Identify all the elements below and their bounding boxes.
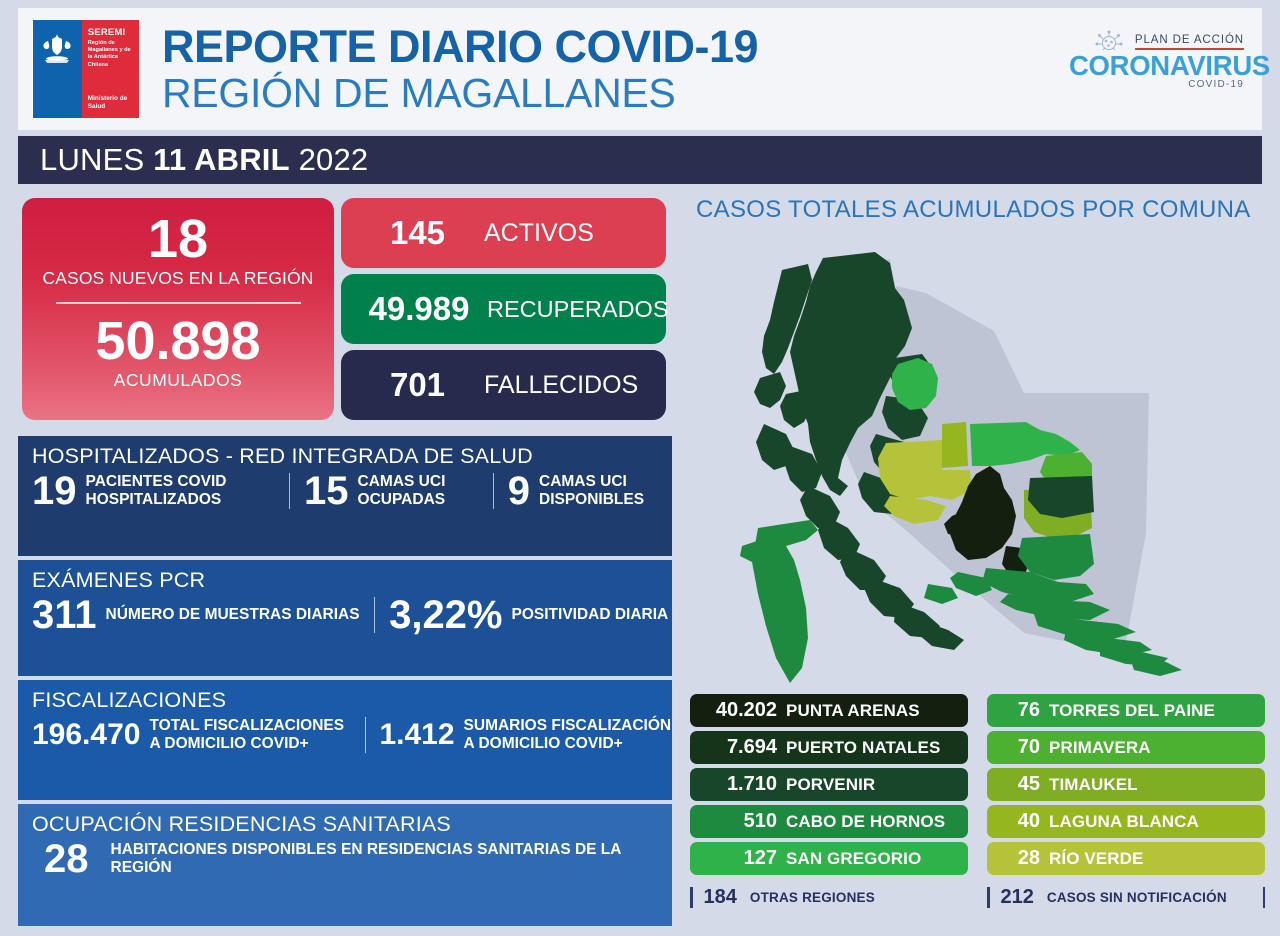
comuna-value: 127 xyxy=(690,847,786,870)
table-row: 7.694 PUERTO NATALES xyxy=(690,731,968,764)
casos-sin-notificacion-value: 212 xyxy=(1001,886,1034,909)
seremi-logo: SEREMI Región de Magallanes y de la Antá… xyxy=(32,19,140,119)
table-row: 127 SAN GREGORIO xyxy=(690,842,968,875)
table-row: 1.710 PORVENIR xyxy=(690,768,968,801)
comuna-name: SAN GREGORIO xyxy=(786,849,921,869)
sumarios-value: 1.412 xyxy=(379,715,454,755)
new-cases-label: CASOS NUEVOS EN LA REGIÓN xyxy=(43,268,314,289)
pill-recuperados: 49.989 RECUPERADOS xyxy=(341,274,666,344)
comuna-name: TORRES DEL PAINE xyxy=(1049,701,1215,721)
logo-region-text: Región de Magallanes y de la Antártica C… xyxy=(88,40,135,69)
pcr-positivity-label: POSITIVIDAD DIARIA xyxy=(512,606,669,624)
comuna-name: PUNTA ARENAS xyxy=(786,701,920,721)
logo-seremi-text: SEREMI xyxy=(88,27,135,38)
total-cases-value: 50.898 xyxy=(95,312,260,370)
recuperados-value: 49.989 xyxy=(355,290,483,328)
divider-bar xyxy=(690,887,693,908)
comuna-value: 40 xyxy=(987,810,1049,833)
divider-bar xyxy=(1263,887,1266,908)
region-antartica xyxy=(740,520,818,683)
comuna-name: TIMAUKEL xyxy=(1049,775,1138,795)
status-pills: 145 ACTIVOS 49.989 RECUPERADOS 701 FALLE… xyxy=(341,198,666,426)
date-day-month: 11 ABRIL xyxy=(153,142,290,178)
virus-icon xyxy=(1088,30,1130,50)
comuna-name: RÍO VERDE xyxy=(1049,849,1143,869)
comuna-value: 70 xyxy=(987,736,1049,759)
region-laguna-blanca xyxy=(942,422,968,468)
otras-regiones-value: 184 xyxy=(704,886,737,909)
table-row: 28 RÍO VERDE xyxy=(987,842,1265,875)
table-row: 70 PRIMAVERA xyxy=(987,731,1265,764)
card-divider xyxy=(56,302,301,304)
casos-sin-notificacion-stat: 212 CASOS SIN NOTIFICACIÓN xyxy=(987,883,1265,911)
pcr-samples-label: NÚMERO DE MUESTRAS DIARIAS xyxy=(106,606,360,624)
new-cases-value: 18 xyxy=(148,210,208,268)
pcr-heading: EXÁMENES PCR xyxy=(18,560,672,595)
pcr-positivity-value: 3,22% xyxy=(389,595,502,635)
residencias-heading: OCUPACIÓN RESIDENCIAS SANITARIAS xyxy=(18,804,672,839)
report-header: SEREMI Región de Magallanes y de la Antá… xyxy=(18,8,1262,130)
hosp-patients-value: 19 xyxy=(32,471,77,511)
map-svg xyxy=(690,228,1265,683)
page-title: REPORTE DIARIO COVID-19 xyxy=(162,23,758,71)
comuna-name: PUERTO NATALES xyxy=(786,738,940,758)
recuperados-label: RECUPERADOS xyxy=(487,296,669,323)
comuna-value: 45 xyxy=(987,773,1049,796)
magallanes-choropleth-map xyxy=(690,228,1265,683)
fiscalizaciones-heading: FISCALIZACIONES xyxy=(18,680,672,715)
casos-sin-notificacion-label: CASOS SIN NOTIFICACIÓN xyxy=(1047,890,1227,905)
otras-regiones-label: OTRAS REGIONES xyxy=(750,890,875,905)
map-title: CASOS TOTALES ACUMULADOS POR COMUNA xyxy=(696,196,1251,224)
hosp-patients-label: PACIENTES COVID HOSPITALIZADOS xyxy=(86,473,276,509)
pill-fallecidos: 701 FALLECIDOS xyxy=(341,350,666,420)
comuna-value: 28 xyxy=(987,847,1049,870)
residencias-label: HABITACIONES DISPONIBLES EN RESIDENCIAS … xyxy=(111,841,673,877)
total-fiscalizaciones-value: 196.470 xyxy=(32,715,140,755)
hospitalized-panel: HOSPITALIZADOS - RED INTEGRADA DE SALUD … xyxy=(18,436,672,556)
logo-blue-panel xyxy=(33,20,82,118)
hospitalized-heading: HOSPITALIZADOS - RED INTEGRADA DE SALUD xyxy=(18,436,672,471)
panel-divider xyxy=(365,717,366,753)
fallecidos-value: 701 xyxy=(355,366,480,404)
divider-bar xyxy=(987,887,990,908)
residencias-value: 28 xyxy=(44,839,89,879)
fallecidos-label: FALLECIDOS xyxy=(484,371,638,400)
date-weekday: LUNES xyxy=(40,142,144,178)
comunas-right-column: 76 TORRES DEL PAINE 70 PRIMAVERA 45 TIMA… xyxy=(987,694,1265,879)
activos-label: ACTIVOS xyxy=(484,219,594,248)
logo-red-panel: SEREMI Región de Magallanes y de la Antá… xyxy=(82,20,139,118)
comuna-name: PORVENIR xyxy=(786,775,875,795)
uci-available-label: CAMAS UCI DISPONIBLES xyxy=(539,473,672,509)
coronavirus-wordmark: CORONAVIRUS xyxy=(1069,51,1244,81)
date-year: 2022 xyxy=(299,142,369,178)
uci-occupied-value: 15 xyxy=(304,471,349,511)
table-row: 76 TORRES DEL PAINE xyxy=(987,694,1265,727)
sumarios-label: SUMARIOS FISCALIZACIÓN A DOMICILIO COVID… xyxy=(464,717,672,753)
footer-stats: 184 OTRAS REGIONES 212 CASOS SIN NOTIFIC… xyxy=(690,883,1265,911)
comuna-name: PRIMAVERA xyxy=(1049,738,1151,758)
table-row: 40.202 PUNTA ARENAS xyxy=(690,694,968,727)
date-bar: LUNES 11 ABRIL 2022 xyxy=(18,136,1262,184)
comuna-value: 40.202 xyxy=(690,699,786,722)
table-row: 40 LAGUNA BLANCA xyxy=(987,805,1265,838)
comuna-value: 7.694 xyxy=(690,736,786,759)
uci-available-value: 9 xyxy=(508,471,530,511)
residencias-panel: OCUPACIÓN RESIDENCIAS SANITARIAS 28 HABI… xyxy=(18,804,672,926)
plan-de-accion-text: PLAN DE ACCIÓN xyxy=(1135,34,1244,50)
total-fiscalizaciones-label: TOTAL FISCALIZACIONES A DOMICILIO COVID+ xyxy=(149,717,350,753)
new-cases-card: 18 CASOS NUEVOS EN LA REGIÓN 50.898 ACUM… xyxy=(22,198,334,420)
table-row: 45 TIMAUKEL xyxy=(987,768,1265,801)
pcr-samples-value: 311 xyxy=(32,595,97,635)
panel-divider xyxy=(289,473,290,509)
comunas-left-column: 40.202 PUNTA ARENAS 7.694 PUERTO NATALES… xyxy=(690,694,968,879)
pill-activos: 145 ACTIVOS xyxy=(341,198,666,268)
table-row: 510 CABO DE HORNOS xyxy=(690,805,968,838)
otras-regiones-stat: 184 OTRAS REGIONES xyxy=(690,883,968,911)
activos-value: 145 xyxy=(355,214,480,252)
comuna-value: 510 xyxy=(690,810,786,833)
logo-ministry-text: Ministerio de Salud xyxy=(88,95,139,111)
comuna-name: CABO DE HORNOS xyxy=(786,812,945,832)
chilean-coat-of-arms-icon xyxy=(40,34,74,64)
page-subtitle: REGIÓN DE MAGALLANES xyxy=(162,71,758,115)
fiscalizaciones-panel: FISCALIZACIONES 196.470 TOTAL FISCALIZAC… xyxy=(18,680,672,800)
comuna-value: 76 xyxy=(987,699,1049,722)
comuna-name: LAGUNA BLANCA xyxy=(1049,812,1199,832)
coronavirus-logo: PLAN DE ACCIÓN CORONAVIRUS COVID-19 xyxy=(1069,30,1244,90)
pcr-panel: EXÁMENES PCR 311 NÚMERO DE MUESTRAS DIAR… xyxy=(18,560,672,676)
comunas-table: 40.202 PUNTA ARENAS 7.694 PUERTO NATALES… xyxy=(690,694,1265,911)
panel-divider xyxy=(374,597,376,633)
total-cases-label: ACUMULADOS xyxy=(114,370,243,391)
comuna-value: 1.710 xyxy=(690,773,786,796)
panel-divider xyxy=(493,473,494,509)
header-titles: REPORTE DIARIO COVID-19 REGIÓN DE MAGALL… xyxy=(162,23,758,115)
uci-occupied-label: CAMAS UCI OCUPADAS xyxy=(358,473,479,509)
